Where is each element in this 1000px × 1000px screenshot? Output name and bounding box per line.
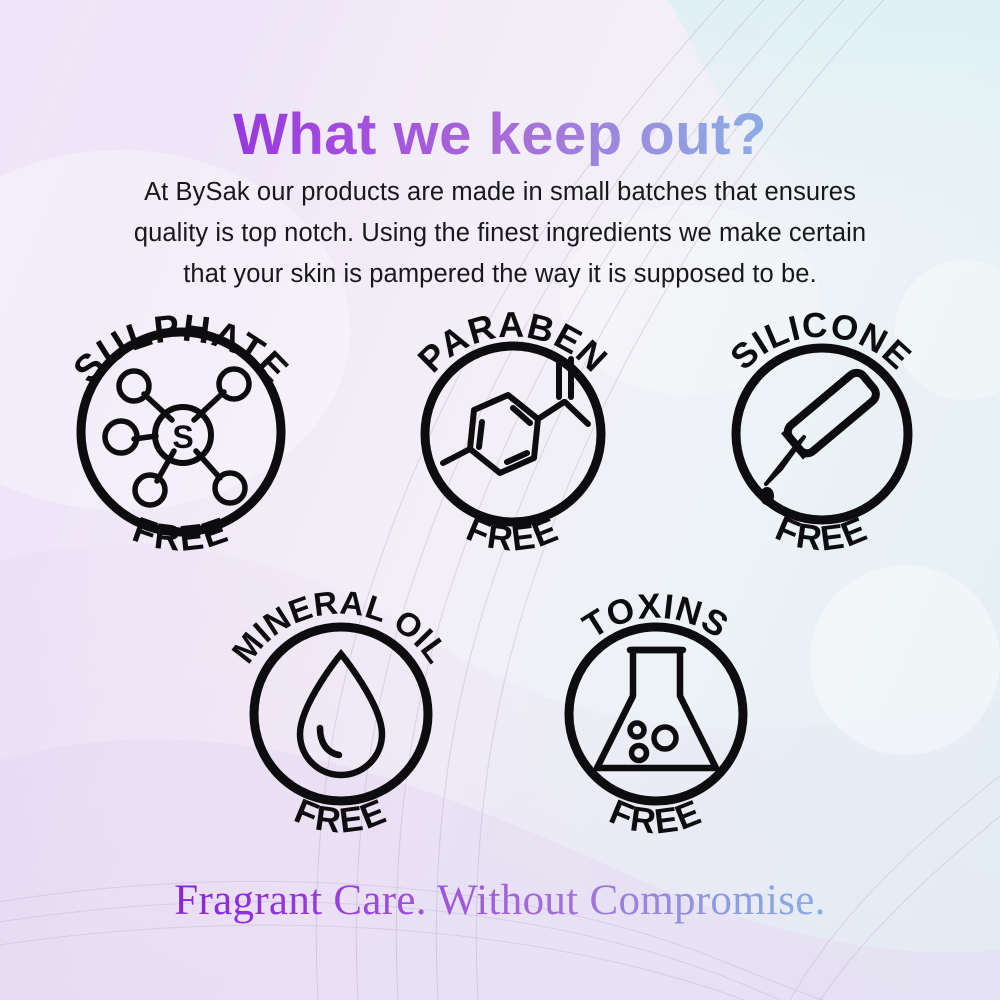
- erlenmeyer-flask-icon: [597, 650, 716, 768]
- badge-toxins[interactable]: TOXINS FREE: [540, 578, 772, 844]
- intro-line-3: that your skin is pampered the way it is…: [183, 260, 817, 288]
- flask-bubbles: [630, 723, 676, 761]
- oil-droplet-icon: [300, 654, 382, 775]
- silicone-tube-dropper-icon: [760, 369, 880, 505]
- badge-free-label-paraben: FREE: [461, 509, 565, 559]
- sulphate-center-atom-label: S: [172, 419, 193, 455]
- page-title: What we keep out?: [0, 101, 1000, 168]
- marketing-graphic: What we keep out? At BySak our products …: [0, 0, 1000, 1000]
- footer-tagline: Fragrant Care. Without Compromise.: [0, 876, 1000, 925]
- badge-mineral-oil[interactable]: MINERAL OIL FREE: [224, 578, 458, 844]
- paraben-benzene-ring-icon: [443, 359, 588, 473]
- badge-silicone[interactable]: SILICONE FREE: [708, 300, 936, 562]
- badge-arc-label-sulphate: SULPHATE: [66, 307, 297, 391]
- intro-paragraph: At BySak our products are made in small …: [60, 172, 940, 295]
- badge-paraben[interactable]: PARABEN FREE: [396, 298, 630, 562]
- badge-arc-label-toxins: TOXINS: [576, 587, 735, 647]
- badge-sulphate[interactable]: S SULPHATE FREE: [44, 296, 318, 562]
- intro-line-1: At BySak our products are made in small …: [144, 178, 856, 206]
- badge-ring: [425, 346, 601, 522]
- badge-arc-label-paraben: PARABEN: [410, 304, 616, 380]
- bg-blob-bottom2: [0, 739, 1000, 1000]
- bg-blob-bottom: [0, 544, 1000, 1000]
- bg-circle-right: [810, 565, 1000, 755]
- intro-line-2: quality is top notch. Using the finest i…: [134, 219, 866, 247]
- badge-arc-label-silicone: SILICONE: [723, 305, 919, 377]
- badge-free-label-sulphate: FREE: [128, 508, 235, 559]
